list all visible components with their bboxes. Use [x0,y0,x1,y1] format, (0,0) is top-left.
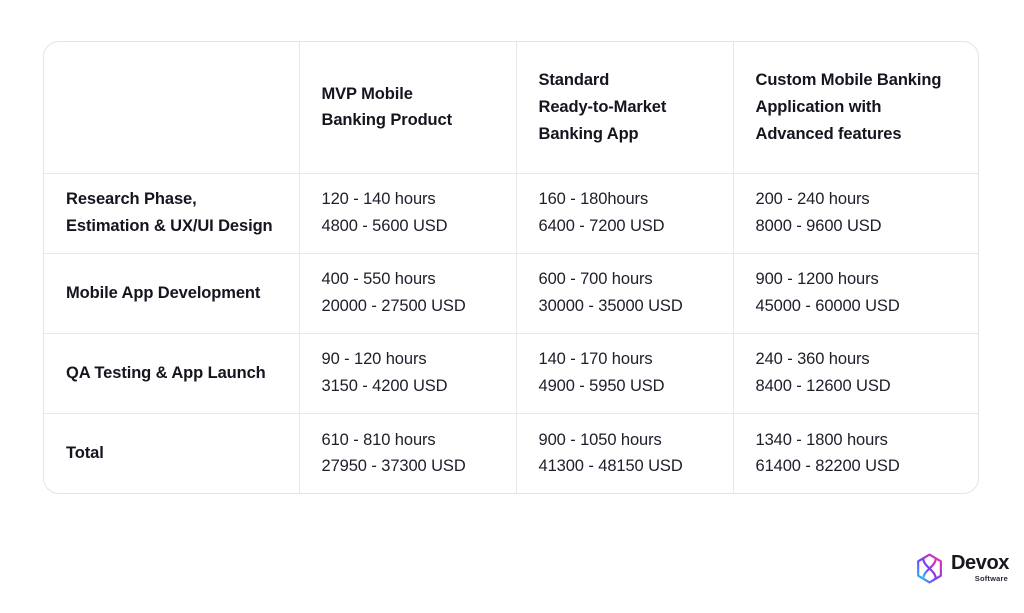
column-header-custom-line-1: Custom Mobile Banking [756,67,957,94]
table-row: Mobile App Development 400 - 550 hours 2… [44,253,978,333]
cell-hours: 90 - 120 hours [322,346,494,373]
cell-hours: 120 - 140 hours [322,186,494,213]
cell-total-mvp: 610 - 810 hours 27950 - 37300 USD [299,413,516,493]
table-header: MVP Mobile Banking Product Standard Read… [44,42,978,173]
cell-cost: 6400 - 7200 USD [539,213,711,240]
devox-hexagon-icon [913,552,946,585]
cell-cost: 27950 - 37300 USD [322,453,494,480]
cell-hours: 160 - 180hours [539,186,711,213]
cell-research-custom: 200 - 240 hours 8000 - 9600 USD [733,173,978,253]
cell-research-mvp: 120 - 140 hours 4800 - 5600 USD [299,173,516,253]
row-label-research-phase: Research Phase, Estimation & UX/UI Desig… [44,173,299,253]
cell-total-standard: 900 - 1050 hours 41300 - 48150 USD [516,413,733,493]
pricing-table: MVP Mobile Banking Product Standard Read… [44,42,978,493]
column-header-standard-line-2: Ready-to-Market [539,94,711,121]
logo-wordmark: Devox Software [951,553,1009,584]
pricing-table-container: MVP Mobile Banking Product Standard Read… [43,41,979,494]
cell-hours: 400 - 550 hours [322,266,494,293]
table-row: Research Phase, Estimation & UX/UI Desig… [44,173,978,253]
cell-cost: 8400 - 12600 USD [756,373,957,400]
column-header-custom: Custom Mobile Banking Application with A… [733,42,978,173]
column-header-mvp-line-1: MVP Mobile [322,81,494,108]
cell-qa-mvp: 90 - 120 hours 3150 - 4200 USD [299,333,516,413]
cell-hours: 600 - 700 hours [539,266,711,293]
column-header-standard: Standard Ready-to-Market Banking App [516,42,733,173]
cell-cost: 30000 - 35000 USD [539,293,711,320]
cell-hours: 1340 - 1800 hours [756,427,957,454]
header-row: MVP Mobile Banking Product Standard Read… [44,42,978,173]
row-label-mobile-app-development: Mobile App Development [44,253,299,333]
column-header-standard-line-1: Standard [539,67,711,94]
cell-qa-custom: 240 - 360 hours 8400 - 12600 USD [733,333,978,413]
cell-hours: 900 - 1200 hours [756,266,957,293]
cell-development-standard: 600 - 700 hours 30000 - 35000 USD [516,253,733,333]
cell-cost: 4900 - 5950 USD [539,373,711,400]
row-label-qa-testing-app-launch: QA Testing & App Launch [44,333,299,413]
row-label-total: Total [44,413,299,493]
logo-tagline: Software [975,575,1008,583]
column-header-standard-line-3: Banking App [539,121,711,148]
cell-cost: 45000 - 60000 USD [756,293,957,320]
column-header-mvp: MVP Mobile Banking Product [299,42,516,173]
logo-name: Devox [951,553,1009,573]
devox-software-logo: Devox Software [913,549,1008,587]
cell-total-custom: 1340 - 1800 hours 61400 - 82200 USD [733,413,978,493]
cell-cost: 8000 - 9600 USD [756,213,957,240]
cell-hours: 610 - 810 hours [322,427,494,454]
column-header-custom-line-3: Advanced features [756,121,957,148]
table-row-total: Total 610 - 810 hours 27950 - 37300 USD … [44,413,978,493]
cell-qa-standard: 140 - 170 hours 4900 - 5950 USD [516,333,733,413]
column-header-mvp-line-2: Banking Product [322,107,494,134]
cell-research-standard: 160 - 180hours 6400 - 7200 USD [516,173,733,253]
column-header-custom-line-2: Application with [756,94,957,121]
cell-hours: 140 - 170 hours [539,346,711,373]
cell-cost: 3150 - 4200 USD [322,373,494,400]
page-root: MVP Mobile Banking Product Standard Read… [0,0,1024,613]
cell-hours: 200 - 240 hours [756,186,957,213]
cell-hours: 900 - 1050 hours [539,427,711,454]
cell-cost: 4800 - 5600 USD [322,213,494,240]
cell-hours: 240 - 360 hours [756,346,957,373]
column-header-phase [44,42,299,173]
cell-development-custom: 900 - 1200 hours 45000 - 60000 USD [733,253,978,333]
cell-cost: 20000 - 27500 USD [322,293,494,320]
cell-cost: 61400 - 82200 USD [756,453,957,480]
cell-development-mvp: 400 - 550 hours 20000 - 27500 USD [299,253,516,333]
table-body: Research Phase, Estimation & UX/UI Desig… [44,173,978,493]
table-row: QA Testing & App Launch 90 - 120 hours 3… [44,333,978,413]
cell-cost: 41300 - 48150 USD [539,453,711,480]
